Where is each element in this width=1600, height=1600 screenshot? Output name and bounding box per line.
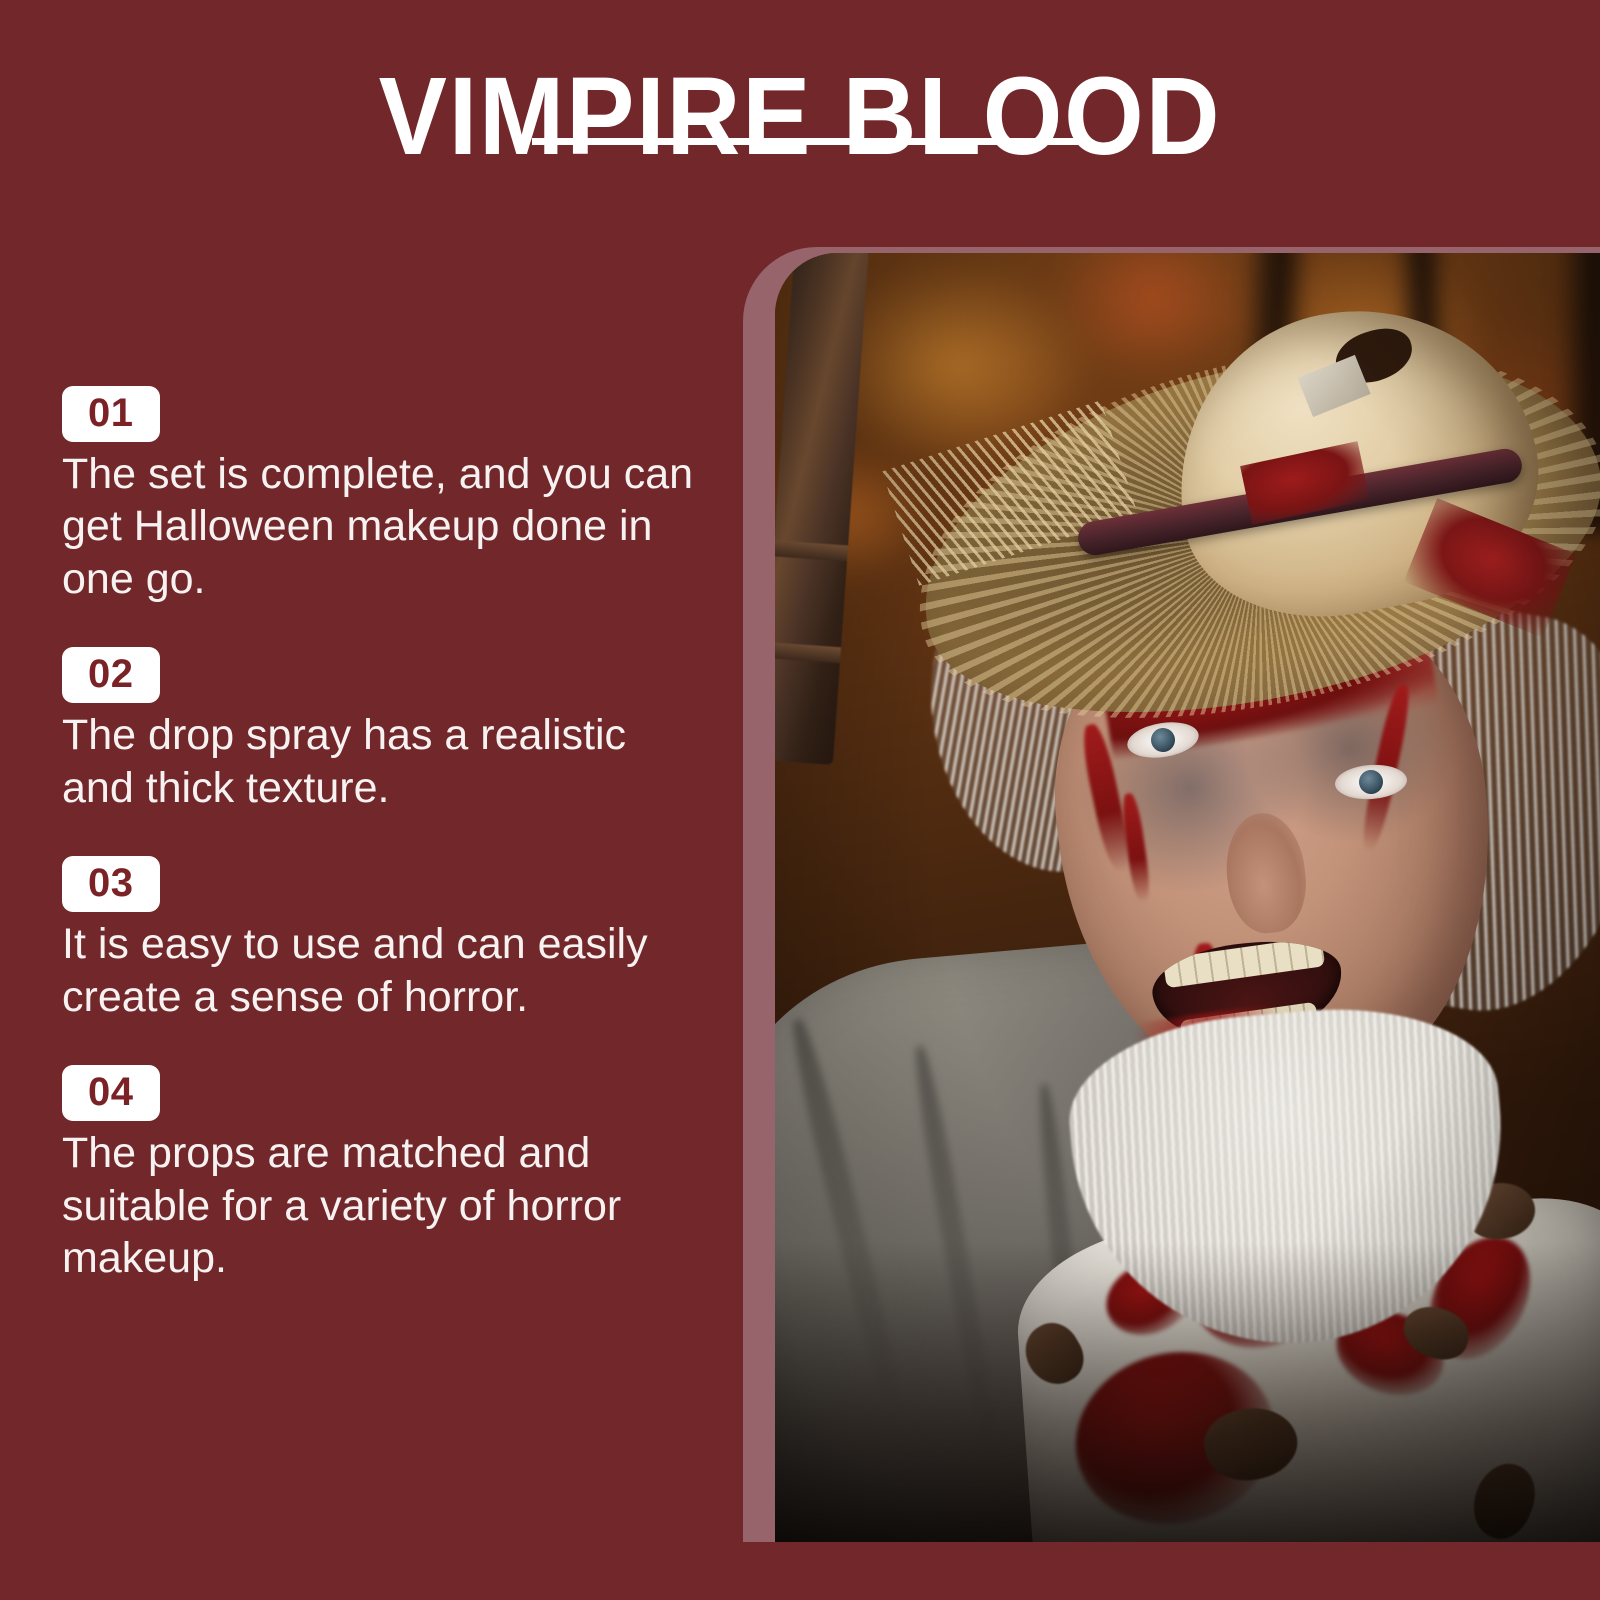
photo-vignette [775, 253, 1600, 1542]
feature-list: 01 The set is complete, and you can get … [62, 386, 722, 1285]
feature-number-badge: 04 [62, 1065, 160, 1121]
feature-number-badge: 03 [62, 856, 160, 912]
product-photo [775, 253, 1600, 1542]
feature-description: The props are matched and suitable for a… [62, 1127, 702, 1284]
feature-item: 03 It is easy to use and can easily crea… [62, 856, 722, 1023]
feature-description: The drop spray has a realistic and thick… [62, 709, 702, 814]
feature-item: 04 The props are matched and suitable fo… [62, 1065, 722, 1284]
page-title: VIMPIRE BLOOD [56, 62, 1544, 172]
feature-description: It is easy to use and can easily create … [62, 918, 702, 1023]
title-area: VIMPIRE BLOOD [0, 62, 1600, 172]
feature-number-badge: 01 [62, 386, 160, 442]
poster-canvas: VIMPIRE BLOOD 01 The set is complete, an… [0, 0, 1600, 1600]
title-underline-rule [532, 138, 1078, 145]
feature-item: 01 The set is complete, and you can get … [62, 386, 722, 605]
feature-item: 02 The drop spray has a realistic and th… [62, 647, 722, 814]
feature-description: The set is complete, and you can get Hal… [62, 448, 702, 605]
feature-number-badge: 02 [62, 647, 160, 703]
photo-scene [775, 253, 1600, 1542]
